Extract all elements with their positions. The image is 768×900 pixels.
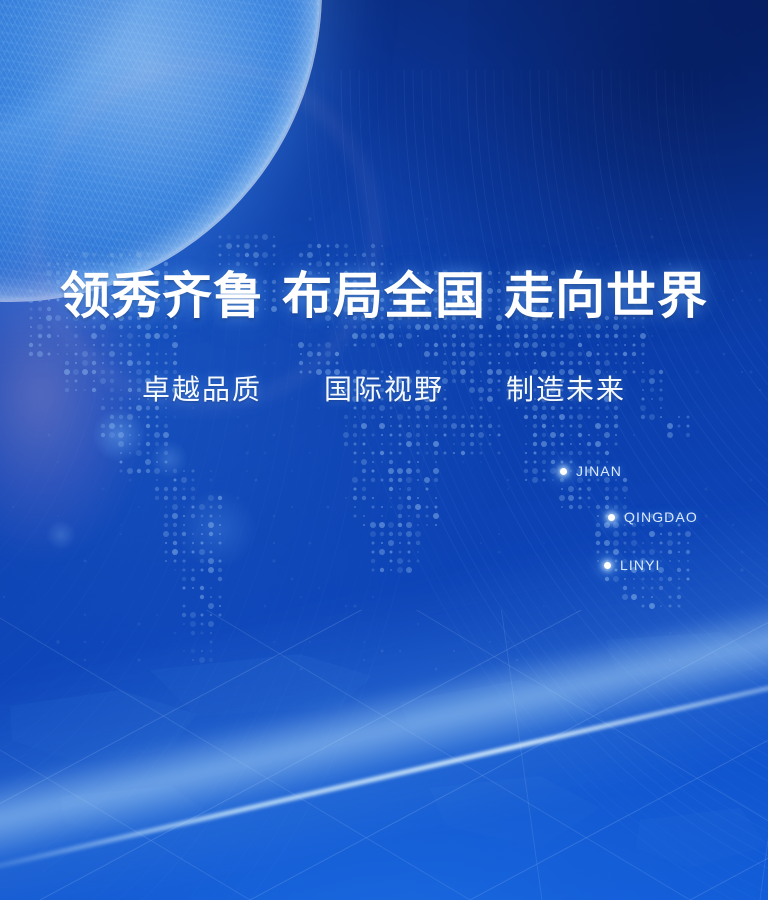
hero-banner: 领秀齐鲁布局全国走向世界 卓越品质 国际视野 制造未来 JINAN QINGDA… (0, 0, 768, 900)
